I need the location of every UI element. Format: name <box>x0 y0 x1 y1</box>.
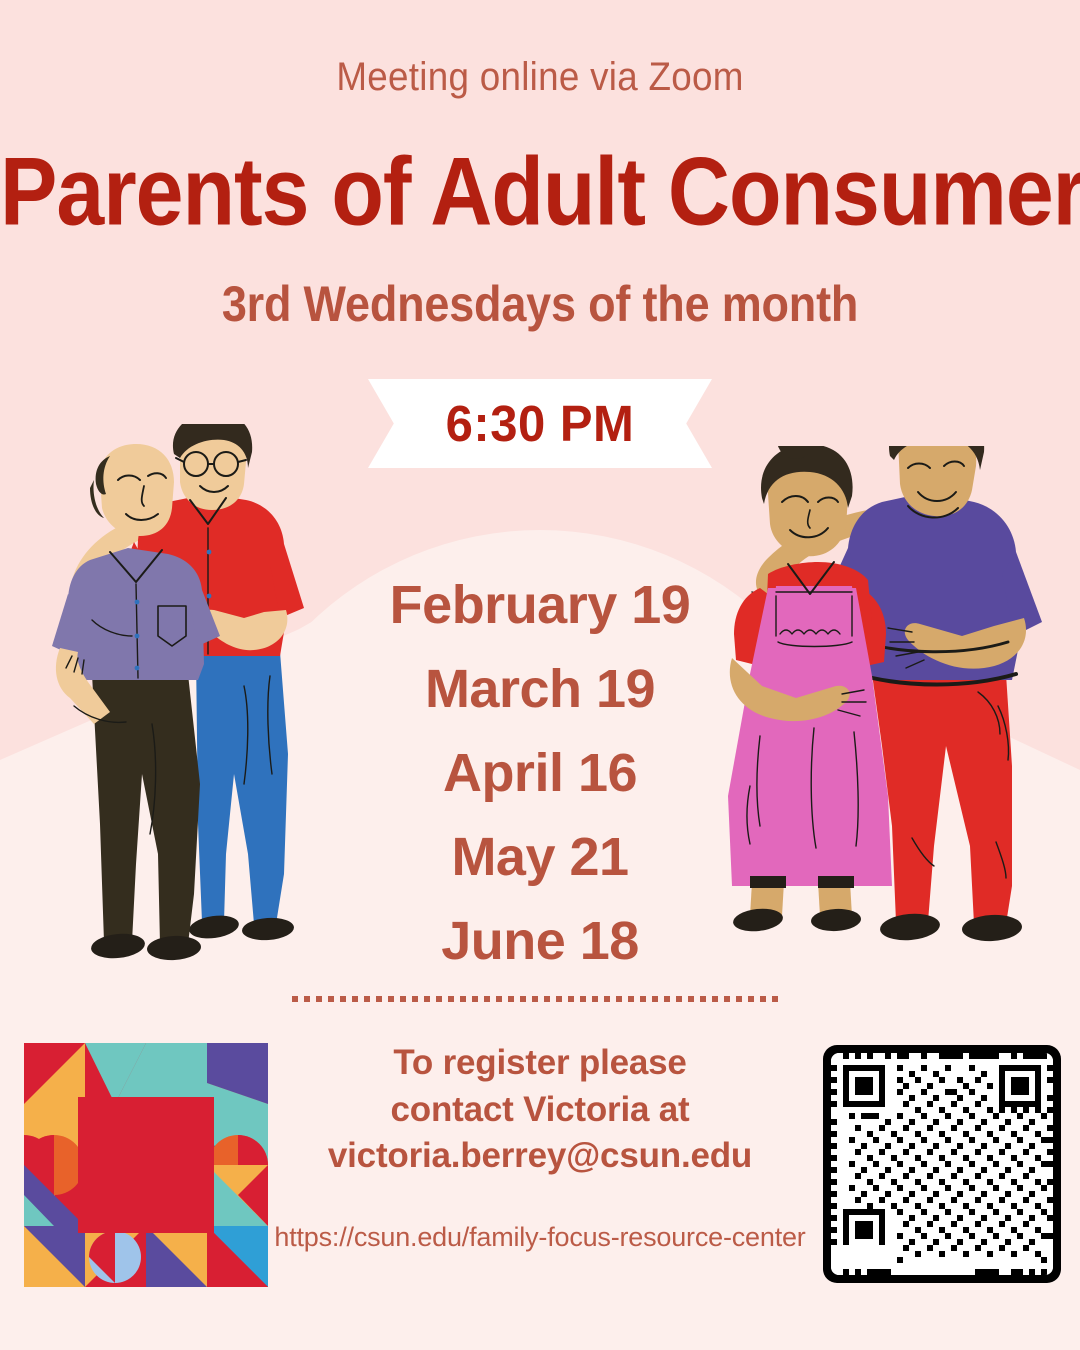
kicker-text: Meeting online via Zoom <box>43 55 1037 100</box>
qr-code-matrix[interactable] <box>831 1053 1053 1275</box>
subtitle-text: 3rd Wednesdays of the month <box>0 275 1080 333</box>
date-item: February 19 <box>290 578 790 632</box>
dates-list: February 19 March 19 April 16 May 21 Jun… <box>290 578 790 968</box>
time-ribbon: 6:30 PM <box>368 379 712 468</box>
qr-code[interactable]: FLOWCODE PRIVACY.FLOWCODE.COM <box>823 1045 1061 1283</box>
logo-pattern <box>24 1043 268 1287</box>
register-email[interactable]: victoria.berrey@csun.edu <box>290 1133 790 1180</box>
register-line-2: contact Victoria at <box>290 1087 790 1134</box>
date-item: March 19 <box>290 662 790 716</box>
time-value: 6:30 PM <box>368 377 712 470</box>
dotted-divider <box>292 996 780 1002</box>
register-line-1: To register please <box>290 1040 790 1087</box>
date-item: June 18 <box>290 914 790 968</box>
poster-canvas: Meeting online via Zoom Parents of Adult… <box>0 0 1080 1350</box>
family-focus-resource-center-logo: FAMILY FOCUS RESOURCE CENTER CSUN MICHAE… <box>24 1043 268 1287</box>
register-block: To register please contact Victoria at v… <box>290 1040 790 1180</box>
date-item: May 21 <box>290 830 790 884</box>
qr-matrix-svg <box>831 1053 1053 1275</box>
date-item: April 16 <box>290 746 790 800</box>
website-url[interactable]: https://csun.edu/family-focus-resource-c… <box>255 1222 825 1253</box>
page-title: Parents of Adult Consumers <box>0 137 1080 248</box>
